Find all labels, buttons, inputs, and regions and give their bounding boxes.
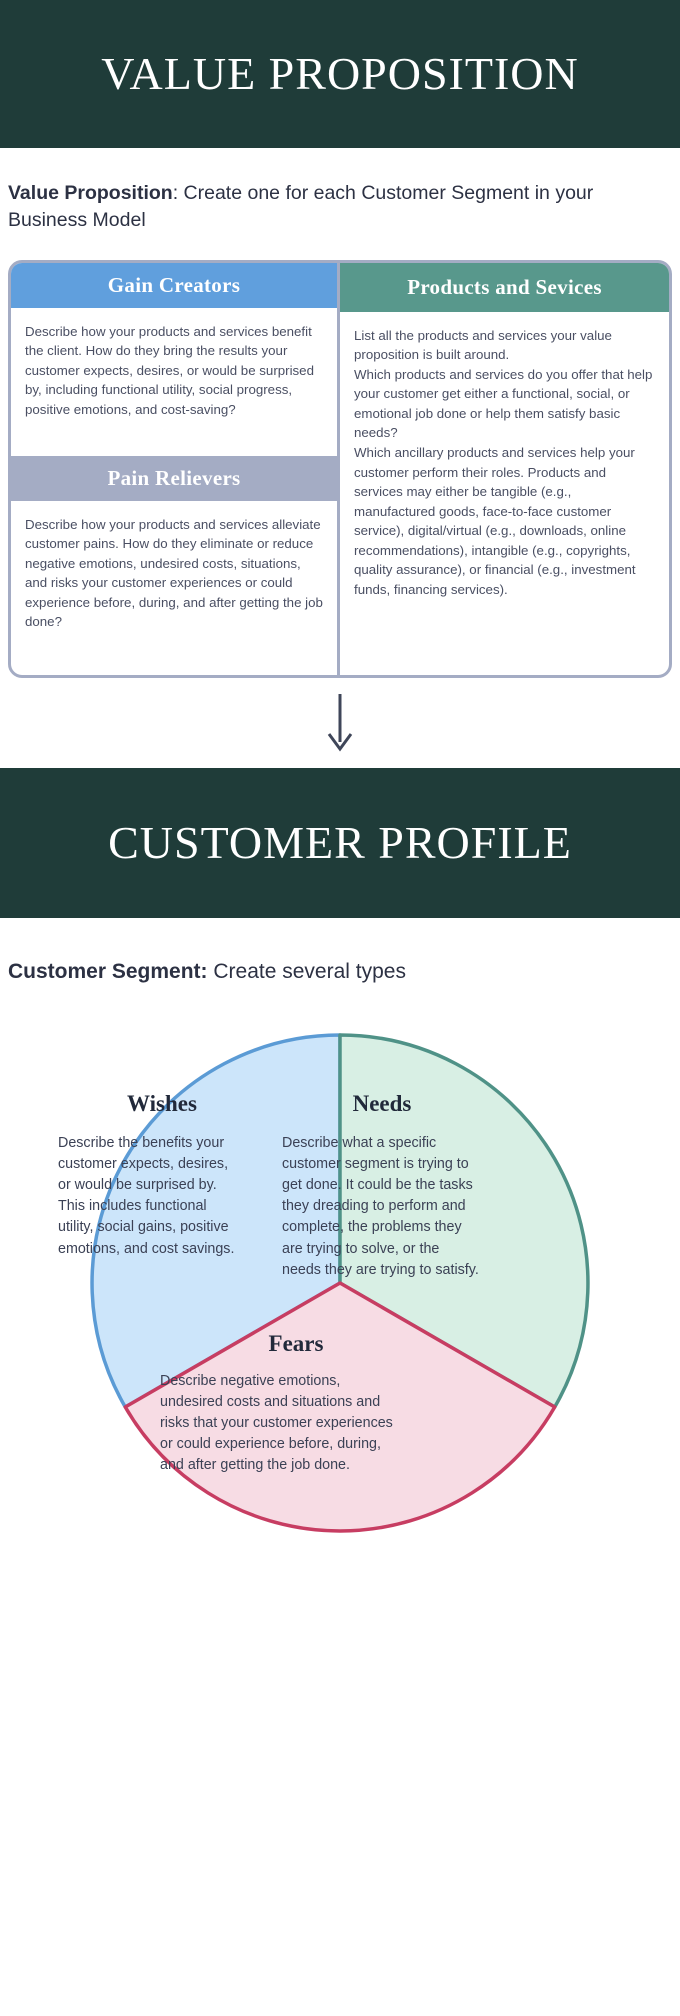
pie-text-fears: Describe negative emotions, undesired co… (160, 1371, 395, 1477)
customer-profile-subtitle: Customer Segment: Create several types (0, 958, 680, 987)
down-arrow-icon (323, 692, 357, 754)
value-proposition-card: Gain Creators Describe how your products… (8, 260, 672, 678)
value-proposition-left-column: Gain Creators Describe how your products… (11, 263, 340, 675)
flow-arrow-container (0, 678, 680, 768)
customer-profile-subtitle-rest: Create several types (208, 960, 406, 983)
panel-body-products-and-services: List all the products and services your … (340, 312, 669, 675)
panel-header-pain-relievers: Pain Relievers (11, 456, 337, 501)
customer-profile-banner: CUSTOMER PROFILE (0, 768, 680, 918)
pie-label-fears: Fears (196, 1331, 396, 1357)
panel-pain-relievers: Pain Relievers Describe how your product… (11, 456, 337, 675)
value-proposition-subtitle-bold: Value Proposition (8, 182, 173, 204)
page-title-customer-profile: CUSTOMER PROFILE (108, 820, 572, 866)
panel-header-gain-creators: Gain Creators (11, 263, 337, 308)
pie-text-wishes: Describe the benefits your customer expe… (58, 1133, 238, 1260)
page-title-value-proposition: VALUE PROPOSITION (101, 51, 578, 97)
value-proposition-right-column: Products and Sevices List all the produc… (340, 263, 669, 675)
panel-body-gain-creators: Describe how your products and services … (11, 308, 337, 430)
pie-text-needs: Describe what a specific customer segmen… (282, 1133, 482, 1281)
value-proposition-banner: VALUE PROPOSITION (0, 0, 680, 148)
pie-label-needs: Needs (292, 1091, 472, 1117)
panel-body-pain-relievers: Describe how your products and services … (11, 501, 337, 642)
panel-gain-creators: Gain Creators Describe how your products… (11, 263, 337, 456)
customer-profile-subtitle-bold: Customer Segment: (8, 960, 208, 983)
customer-profile-pie-chart: Wishes Describe the benefits your custom… (0, 1013, 680, 1573)
value-proposition-subtitle: Value Proposition: Create one for each C… (0, 180, 680, 234)
pie-label-wishes: Wishes (62, 1091, 262, 1117)
panel-header-products-and-services: Products and Sevices (340, 263, 669, 312)
